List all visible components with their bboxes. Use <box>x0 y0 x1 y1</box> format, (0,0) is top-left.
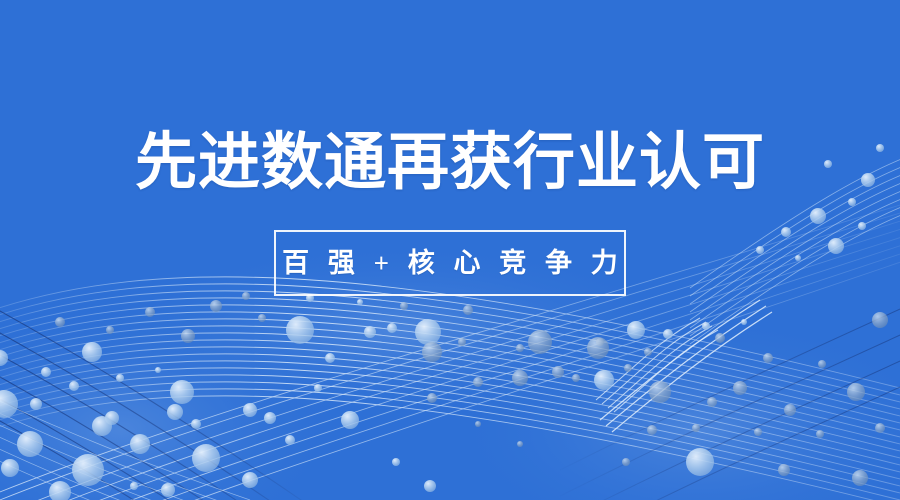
subtitle-frame: 百 强 + 核 心 竞 争 力 <box>274 230 626 296</box>
subtitle-text: 百 强 + 核 心 竞 争 力 <box>276 250 624 277</box>
page-title: 先进数通再获行业认可 <box>135 132 765 194</box>
promo-banner: 先进数通再获行业认可 百 强 + 核 心 竞 争 力 <box>0 0 900 500</box>
banner-content: 先进数通再获行业认可 百 强 + 核 心 竞 争 力 <box>0 0 900 500</box>
